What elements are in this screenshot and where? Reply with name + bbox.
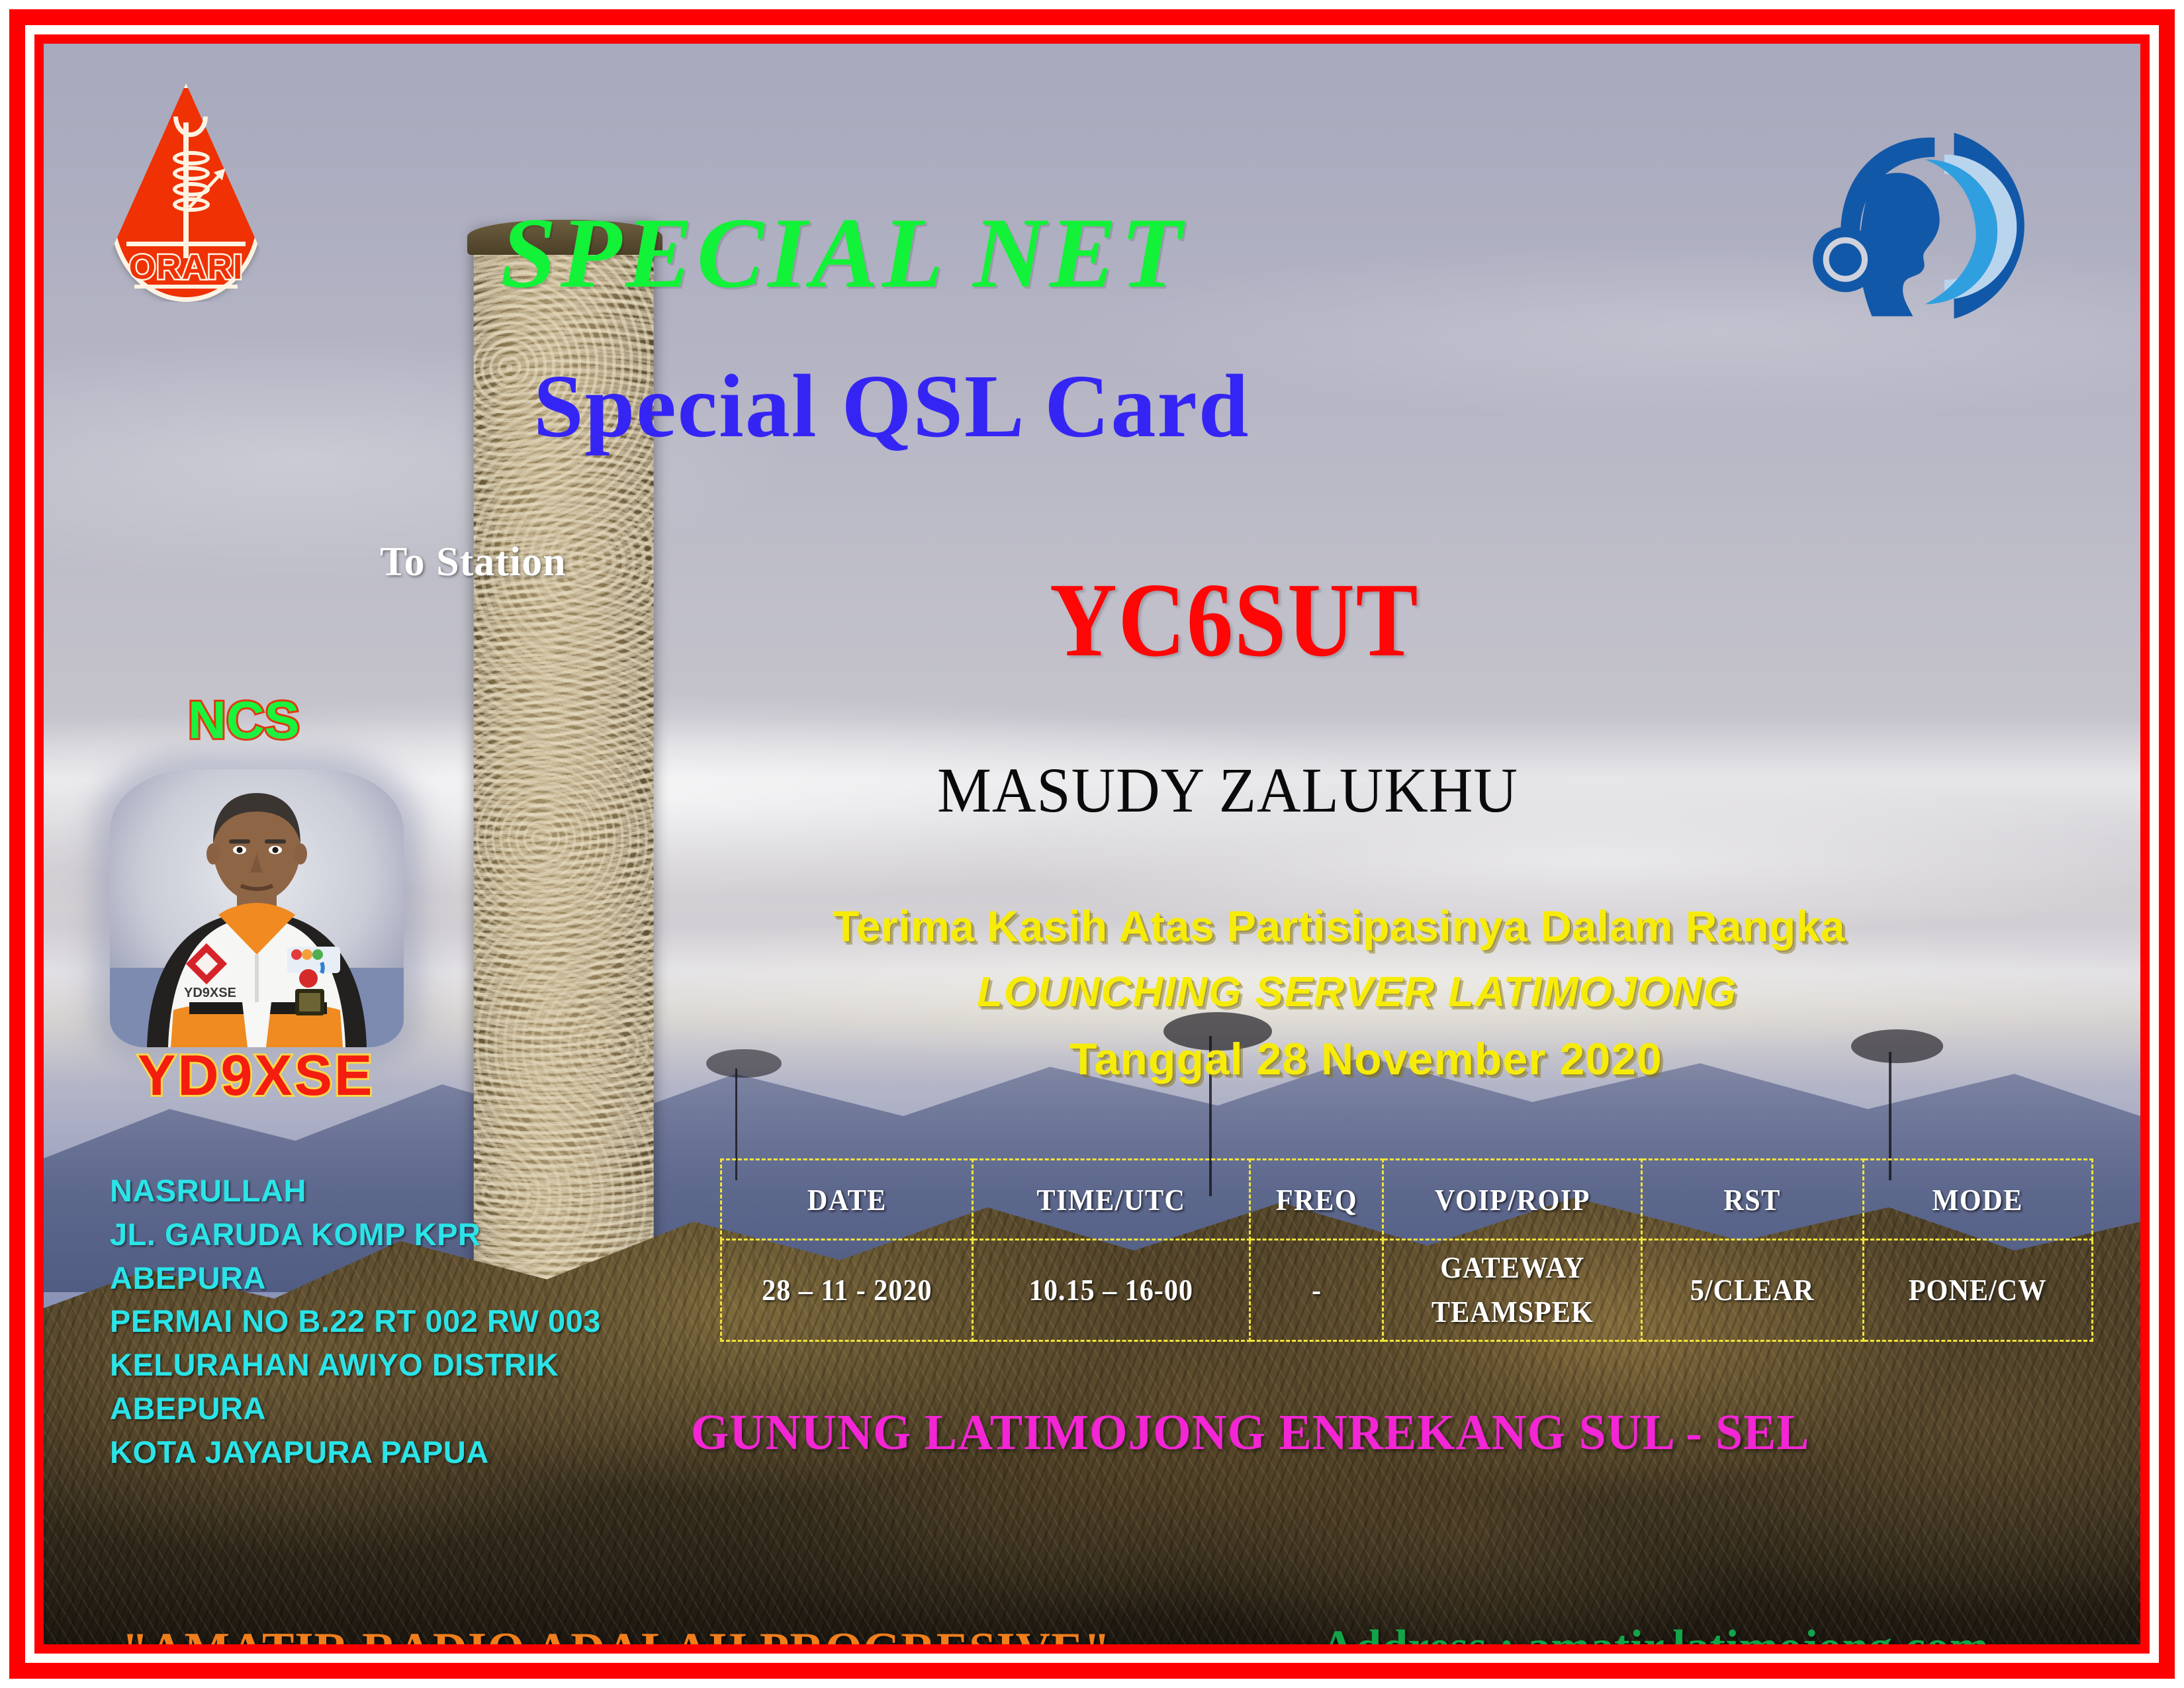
- footer-slogan: "AMATIR RADIO ADALAH PROGRESIVE": [122, 1626, 1111, 1644]
- cell-rst: 5/CLEAR: [1651, 1240, 1854, 1341]
- address-line: ABEPURA: [110, 1256, 601, 1300]
- column-header-time: TIME/UTC: [983, 1160, 1239, 1240]
- event-title: LOUNCHING SERVER LATIMOJONG: [977, 970, 1737, 1013]
- headset-operator-icon: [1804, 123, 2056, 328]
- frame-white-gap: ORARI: [25, 25, 2159, 1663]
- ncs-callsign: YD9XSE: [138, 1047, 374, 1104]
- column-header-voip-roip: VOIP/ROIP: [1393, 1160, 1631, 1240]
- card-photo-background: ORARI: [44, 44, 2140, 1644]
- location-banner: GUNUNG LATIMOJONG ENREKANG SUL - SEL: [691, 1407, 1809, 1458]
- roip-headset-logo: [1804, 123, 2056, 328]
- cell-date: 28 – 11 - 2020: [731, 1240, 962, 1341]
- station-address: NASRULLAH JL. GARUDA KOMP KPR ABEPURA PE…: [110, 1169, 601, 1474]
- tree-silhouette: [706, 1049, 782, 1078]
- ncs-label: NCS: [188, 694, 300, 747]
- table-header-row: DATE TIME/UTC FREQ VOIP/ROIP RST MODE: [721, 1160, 2093, 1240]
- cell-voip-roip-line1: GATEWAY: [1394, 1246, 1631, 1290]
- column-header-mode: MODE: [1872, 1160, 2083, 1240]
- page-subtitle: Special QSL Card: [533, 361, 1250, 451]
- column-header-rst: RST: [1651, 1160, 1854, 1240]
- cell-voip-roip-line2: TEAMSPEK: [1394, 1290, 1631, 1335]
- station-callsign: YC6SUT: [1050, 567, 1419, 673]
- event-date: Tanggal 28 November 2020: [1069, 1037, 1662, 1082]
- svg-text:YD9XSE: YD9XSE: [184, 986, 236, 1000]
- cell-time: 10.15 – 16-00: [983, 1240, 1239, 1341]
- address-line: ABEPURA: [110, 1387, 601, 1430]
- orari-divider-bar-lower: [134, 285, 238, 289]
- thanks-message: Terima Kasih Atas Partisipasinya Dalam R…: [833, 904, 1845, 948]
- address-line: KELURAHAN AWIYO DISTRIK: [110, 1343, 601, 1387]
- tree-silhouette: [1851, 1029, 1943, 1063]
- cell-mode: PONE/CW: [1872, 1240, 2083, 1341]
- orari-divider-bar: [126, 242, 245, 246]
- frame-red-outer: ORARI: [9, 9, 2175, 1679]
- footer-address: Address : amatir.latimojong.com: [1321, 1623, 1989, 1644]
- orari-logo: ORARI: [110, 83, 262, 302]
- address-line: KOTA JAYAPURA PAPUA: [110, 1430, 601, 1474]
- operator-photo: YD9XSE: [110, 769, 404, 1047]
- cell-freq: -: [1255, 1240, 1378, 1341]
- qsl-card: ORARI: [0, 0, 2184, 1688]
- column-header-freq: FREQ: [1255, 1160, 1378, 1240]
- address-line: PERMAI NO B.22 RT 002 RW 003: [110, 1299, 601, 1343]
- to-station-label: To Station: [380, 541, 567, 583]
- avatar: YD9XSE: [110, 769, 404, 1047]
- qso-log-table: DATE TIME/UTC FREQ VOIP/ROIP RST MODE 28…: [720, 1158, 2093, 1342]
- operator-name: MASUDY ZALUKHU: [937, 759, 1518, 822]
- column-header-date: DATE: [731, 1160, 962, 1240]
- cell-voip-roip: GATEWAY TEAMSPEK: [1393, 1240, 1631, 1341]
- address-line: NASRULLAH: [110, 1169, 601, 1213]
- table-row: 28 – 11 - 2020 10.15 – 16-00 - GATEWAY T…: [721, 1240, 2093, 1341]
- frame-red-inner: ORARI: [34, 34, 2150, 1654]
- page-title: SPECIAL NET: [500, 203, 1186, 303]
- address-line: JL. GARUDA KOMP KPR: [110, 1213, 601, 1256]
- orari-wordmark: ORARI: [110, 248, 262, 287]
